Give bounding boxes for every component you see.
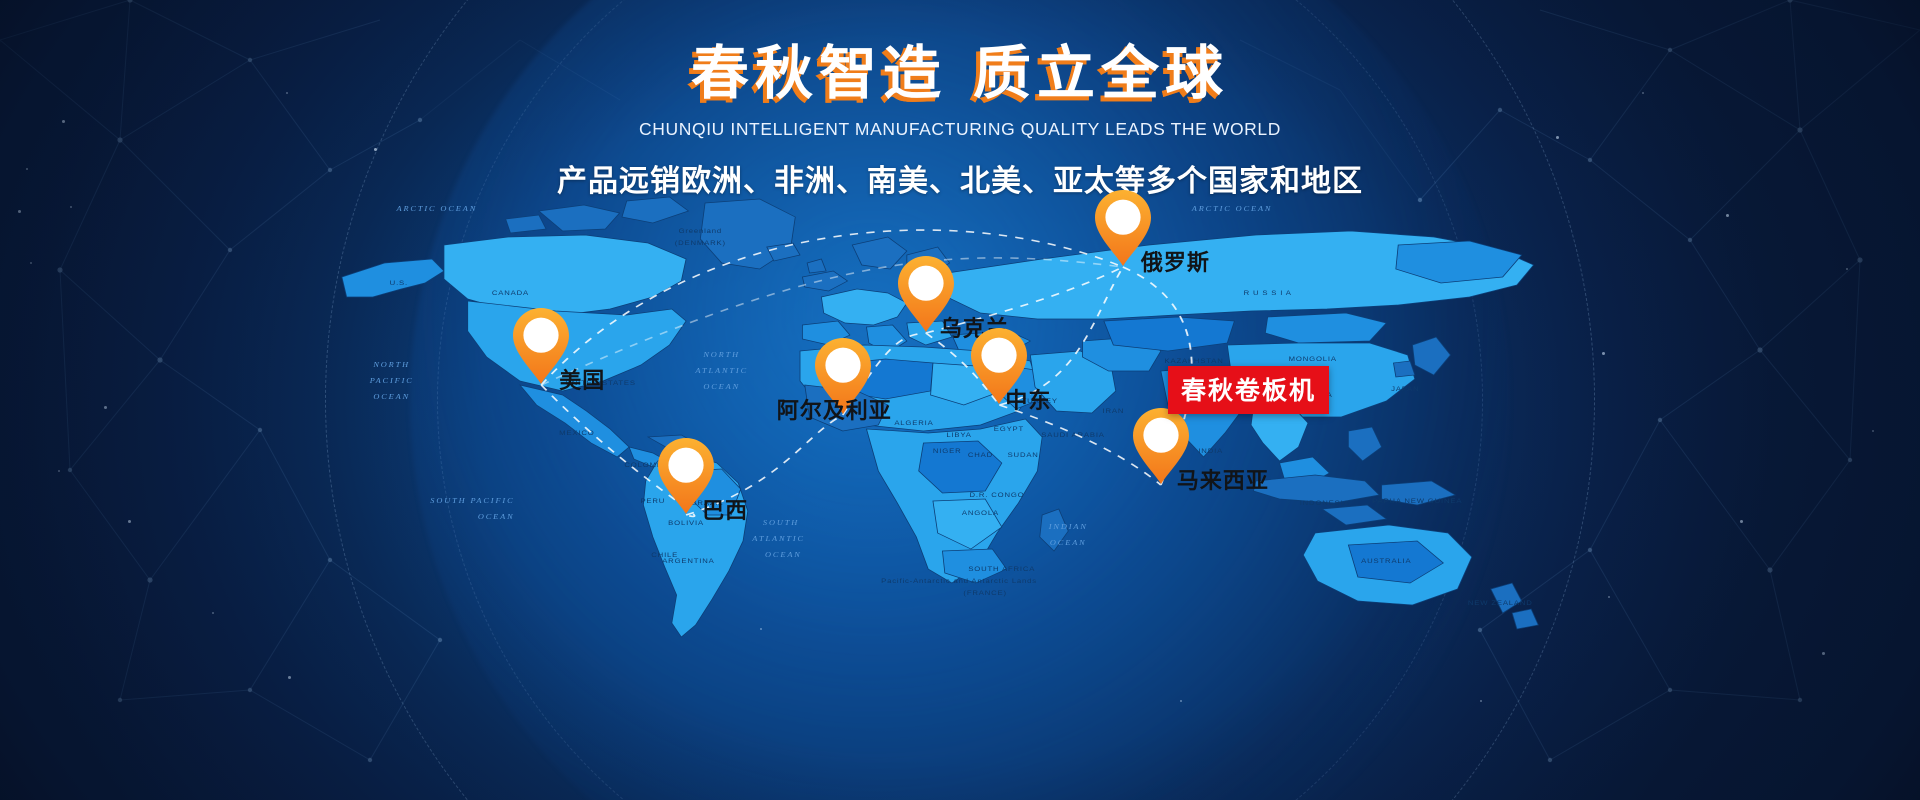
headline-block: 春秋智造质立全球 CHUNQIU INTELLIGENT MANUFACTURI… xyxy=(0,44,1920,200)
map-place-label: (DENMARK) xyxy=(675,240,726,247)
map-place-label: BOLIVIA xyxy=(668,520,704,527)
map-place-label: U.S. xyxy=(390,280,408,287)
map-place-label: OCEAN xyxy=(1050,539,1087,547)
map-place-label: SUDAN xyxy=(1008,452,1039,459)
marker-ukraine[interactable]: 乌克兰 xyxy=(896,255,956,333)
marker-label: 阿尔及利亚 xyxy=(777,393,892,425)
marker-malaysia[interactable]: 马来西亚 xyxy=(1131,407,1191,485)
marker-middleeast[interactable]: 中东 xyxy=(969,327,1029,405)
marker-label: 美国 xyxy=(559,363,605,395)
map-place-label: NEW ZEALAND xyxy=(1468,600,1533,607)
map-place-label: OCEAN xyxy=(703,383,740,391)
map-place-label: ANGOLA xyxy=(962,510,999,517)
map-place-label: NORTH xyxy=(702,351,740,359)
map-place-label: ARCTIC OCEAN xyxy=(1191,205,1273,213)
product-badge[interactable]: 春秋卷板机 xyxy=(1168,366,1329,414)
map-place-label: JAPAN xyxy=(1391,386,1419,393)
marker-russia[interactable]: 俄罗斯 xyxy=(1093,189,1153,267)
map-place-label: INDONESIA xyxy=(1300,500,1350,507)
banner-stage: 春秋智造质立全球 CHUNQIU INTELLIGENT MANUFACTURI… xyxy=(0,0,1920,800)
map-place-label: MONGOLIA xyxy=(1289,356,1337,363)
map-place-label: ATLANTIC xyxy=(694,367,748,375)
map-place-label: SOUTH PACIFIC xyxy=(430,497,514,505)
marker-usa[interactable]: 美国 xyxy=(511,307,571,385)
map-place-label: MEXICO xyxy=(559,430,594,437)
marker-brazil[interactable]: 巴西 xyxy=(656,437,716,515)
map-place-label: NORTH xyxy=(372,361,410,369)
marker-label: 俄罗斯 xyxy=(1141,245,1210,277)
map-place-label: SOUTH AFRICA xyxy=(968,566,1035,573)
map-place-label: INDIA xyxy=(1198,448,1223,455)
subtitle-english: CHUNQIU INTELLIGENT MANUFACTURING QUALIT… xyxy=(0,119,1920,140)
map-place-label: (FRANCE) xyxy=(963,590,1006,597)
marker-algeria[interactable]: 阿尔及利亚 xyxy=(813,337,873,415)
map-place-label: LIBYA xyxy=(946,432,971,439)
map-place-label: PACIFIC xyxy=(369,377,414,385)
map-place-label: SOUTH xyxy=(763,519,799,527)
map-place-label: IRAN xyxy=(1102,408,1124,415)
page-title: 春秋智造质立全球 xyxy=(0,44,1920,105)
map-place-label: EGYPT xyxy=(994,426,1024,433)
marker-label: 马来西亚 xyxy=(1177,463,1269,495)
map-place-label: ARCTIC OCEAN xyxy=(395,205,477,213)
world-map: ARCTIC OCEANARCTIC OCEANNORTHPACIFICOCEA… xyxy=(330,185,1600,655)
map-place-label: Pacific-Antarctic and Antarctic Lands xyxy=(881,578,1037,585)
map-place-label: OCEAN xyxy=(478,513,515,521)
marker-label: 巴西 xyxy=(702,493,748,525)
map-place-label: AUSTRALIA xyxy=(1361,558,1411,565)
map-place-label: KAZAKHSTAN xyxy=(1165,358,1224,365)
title-part-1: 春秋智造 xyxy=(691,41,947,106)
map-place-label: CANADA xyxy=(492,290,529,297)
map-place-label: R U S S I A xyxy=(1244,290,1292,297)
map-place-label: ALGERIA xyxy=(894,420,933,427)
map-place-label: INDIAN xyxy=(1048,523,1088,531)
map-place-label: ARGENTINA xyxy=(662,558,714,565)
map-place-label: D.R. CONGO xyxy=(970,492,1025,499)
map-place-label: CHAD xyxy=(968,452,993,459)
map-place-label: SAUDI ARABIA xyxy=(1041,432,1105,439)
map-place-label: Greenland xyxy=(679,228,722,235)
map-place-label: PAPUA NEW GUINEA xyxy=(1372,498,1462,505)
world-map-place-labels: ARCTIC OCEANARCTIC OCEANNORTHPACIFICOCEA… xyxy=(330,185,1600,655)
map-place-label: ATLANTIC xyxy=(751,535,805,543)
map-place-label: NIGER xyxy=(933,448,962,455)
marker-label: 中东 xyxy=(1005,383,1051,415)
map-place-label: OCEAN xyxy=(765,551,802,559)
title-part-2: 质立全球 xyxy=(973,41,1229,106)
map-place-label: OCEAN xyxy=(373,393,410,401)
